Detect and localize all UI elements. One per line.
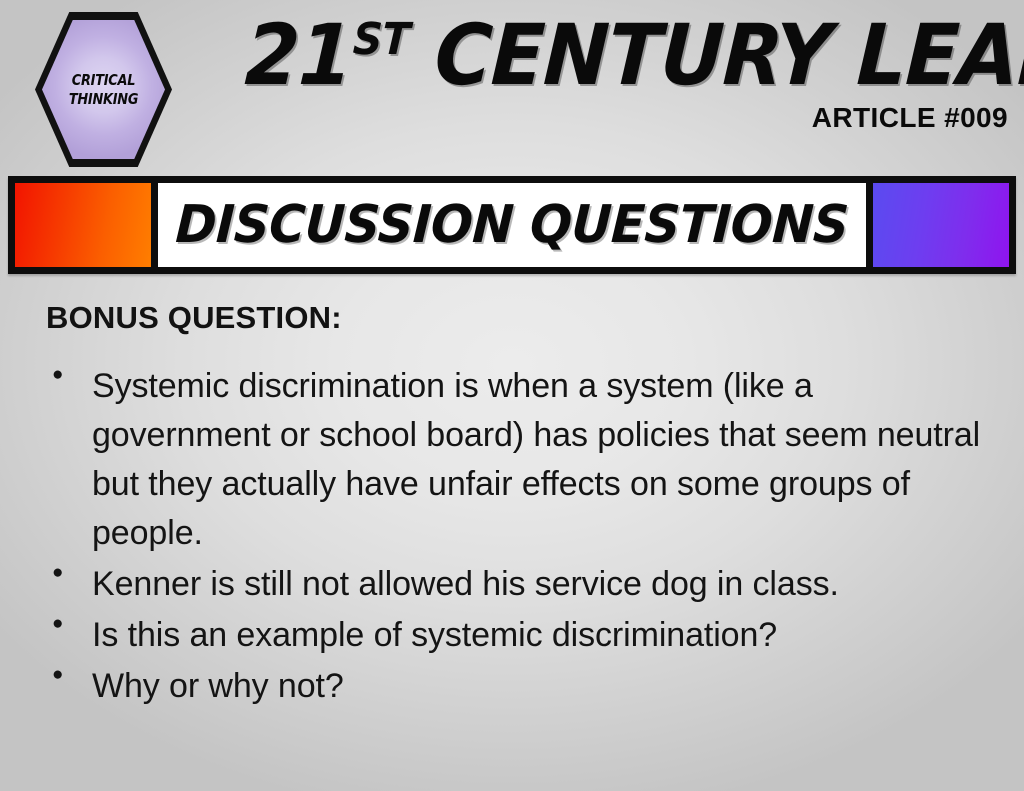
list-item: Systemic discrimination is when a system… (46, 362, 998, 558)
title-main-words: CENTURY LEARNING (433, 6, 1024, 104)
list-item: Kenner is still not allowed his service … (46, 560, 998, 609)
banner-center-panel: DISCUSSION QUESTIONS (158, 183, 866, 267)
badge-text-group: CRITICAL THINKING (45, 12, 163, 167)
slide-header: CRITICAL THINKING 21ST CENTURY LEARNING … (0, 0, 1024, 178)
title-block: 21ST CENTURY LEARNING ARTICLE #009 (188, 14, 1008, 134)
critical-thinking-badge: CRITICAL THINKING (35, 12, 172, 167)
banner-swatch-right (873, 183, 1009, 267)
page-title: 21ST CENTURY LEARNING (243, 14, 1010, 96)
list-item: Is this an example of systemic discrimin… (46, 611, 998, 660)
badge-line-1: CRITICAL (72, 72, 135, 89)
article-number-label: ARTICLE #009 (188, 102, 1008, 134)
title-number: 21 (243, 6, 355, 104)
badge-line-2: THINKING (69, 91, 138, 108)
section-banner: DISCUSSION QUESTIONS (8, 176, 1016, 274)
content-area: BONUS QUESTION: Systemic discrimination … (46, 300, 998, 713)
banner-title: DISCUSSION QUESTIONS (174, 195, 850, 255)
slide-root: CRITICAL THINKING 21ST CENTURY LEARNING … (0, 0, 1024, 791)
bonus-question-heading: BONUS QUESTION: (46, 300, 998, 336)
title-ordinal-superscript: ST (352, 14, 411, 65)
list-item: Why or why not? (46, 662, 998, 711)
banner-swatch-left (15, 183, 151, 267)
question-bullet-list: Systemic discrimination is when a system… (46, 362, 998, 711)
